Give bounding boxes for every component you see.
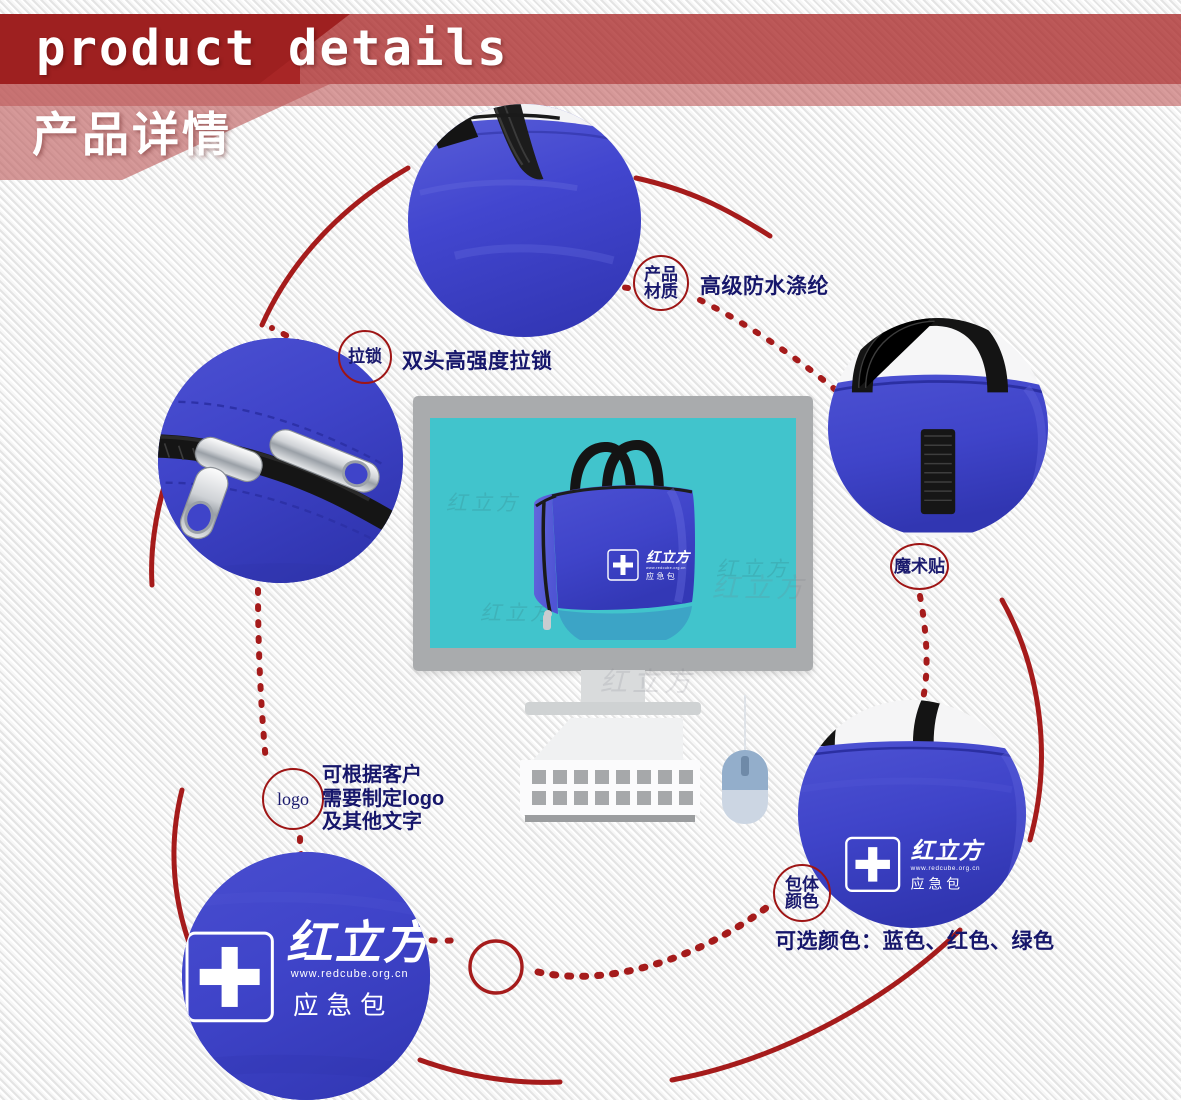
page-title-english: product details <box>36 20 509 77</box>
mouse-scroll-wheel <box>741 756 749 776</box>
svg-text:www.redcube.org.cn: www.redcube.org.cn <box>290 968 409 980</box>
velcro-photo <box>828 318 1048 538</box>
svg-text:www.redcube.org.cn: www.redcube.org.cn <box>910 865 981 872</box>
material-photo-art <box>408 104 641 337</box>
svg-text:应急包: 应急包 <box>293 992 393 1020</box>
monitor-screen: 红立方 红立方 红立方 红立方 <box>430 418 796 648</box>
annotation-text-logo-line1: 可根据客户 <box>322 764 452 788</box>
center-monitor: 红立方 红立方 红立方 红立方 <box>413 396 813 696</box>
annotation-badge-material: 产品 材质 <box>633 255 689 311</box>
svg-text:红立方: 红立方 <box>911 839 985 864</box>
keyboard-key <box>532 791 546 805</box>
bag-color-photo-art: 红立方 www.redcube.org.cn 应急包 <box>798 700 1026 928</box>
svg-text:www.redcube.org.cn: www.redcube.org.cn <box>646 566 686 570</box>
mouse-cord <box>744 695 746 751</box>
material-photo <box>408 104 641 337</box>
svg-text:红立方: 红立方 <box>716 557 791 581</box>
velcro-photo-art <box>828 318 1048 538</box>
bag-color-photo: 红立方 www.redcube.org.cn 应急包 <box>798 700 1026 928</box>
monitor-stand-neck <box>581 670 645 704</box>
keyboard-key <box>616 770 630 784</box>
keyboard-key <box>616 791 630 805</box>
svg-text:应急包: 应急包 <box>911 876 964 892</box>
keyboard-key <box>658 770 672 784</box>
keyboard-key <box>679 791 693 805</box>
keyboard-key <box>679 770 693 784</box>
keyboard-key <box>574 770 588 784</box>
logo-photo-art: 红立方 www.redcube.org.cn 应急包 <box>182 852 430 1100</box>
keyboard-key <box>595 791 609 805</box>
annotation-badge-material-line2: 材质 <box>644 282 678 301</box>
annotation-badge-bag-color-line1: 包体 <box>785 875 819 894</box>
keyboard-key <box>574 791 588 805</box>
keyboard-key <box>532 770 546 784</box>
annotation-badge-velcro: 魔术贴 <box>890 543 949 590</box>
annotation-text-logo-line3: 及其他文字 <box>322 811 452 835</box>
keyboard-key <box>553 770 567 784</box>
page-title-chinese: 产品详情 <box>32 96 232 165</box>
annotation-text-logo-line2: 需要制定logo <box>322 788 452 812</box>
annotation-badge-zipper: 拉锁 <box>338 330 392 384</box>
annotation-badge-material-line1: 产品 <box>644 265 678 284</box>
keyboard-key <box>637 791 651 805</box>
svg-text:红立方: 红立方 <box>446 491 521 515</box>
svg-text:红立方: 红立方 <box>646 549 691 566</box>
product-details-infographic: product details 产品详情 <box>0 0 1181 1100</box>
mouse-body <box>722 790 768 824</box>
annotation-text-zipper: 双头高强度拉锁 <box>402 345 553 375</box>
keyboard-key <box>595 770 609 784</box>
annotation-badge-logo: logo <box>262 768 324 830</box>
monitor-stand-base <box>525 702 701 715</box>
screen-product-image: 红立方 红立方 红立方 红立方 <box>430 418 796 648</box>
keyboard-key <box>658 791 672 805</box>
keyboard-key <box>553 791 567 805</box>
keyboard-foot <box>525 815 695 822</box>
keyboard-key <box>637 770 651 784</box>
annotation-text-material: 高级防水涤纶 <box>700 270 829 300</box>
mouse-illustration <box>722 750 768 824</box>
annotation-badge-bag-color-line2: 颜色 <box>785 892 819 911</box>
annotation-text-bag-color: 可选颜色：蓝色、红色、绿色 <box>775 925 1055 955</box>
svg-text:应急包: 应急包 <box>646 571 677 581</box>
annotation-text-logo: 可根据客户 需要制定logo 及其他文字 <box>322 764 452 835</box>
keyboard-body <box>520 760 700 815</box>
keyboard-illustration <box>520 740 700 830</box>
logo-photo: 红立方 www.redcube.org.cn 应急包 <box>182 852 430 1100</box>
svg-text:红立方: 红立方 <box>286 918 430 969</box>
annotation-badge-bag-color: 包体 颜色 <box>773 864 831 922</box>
